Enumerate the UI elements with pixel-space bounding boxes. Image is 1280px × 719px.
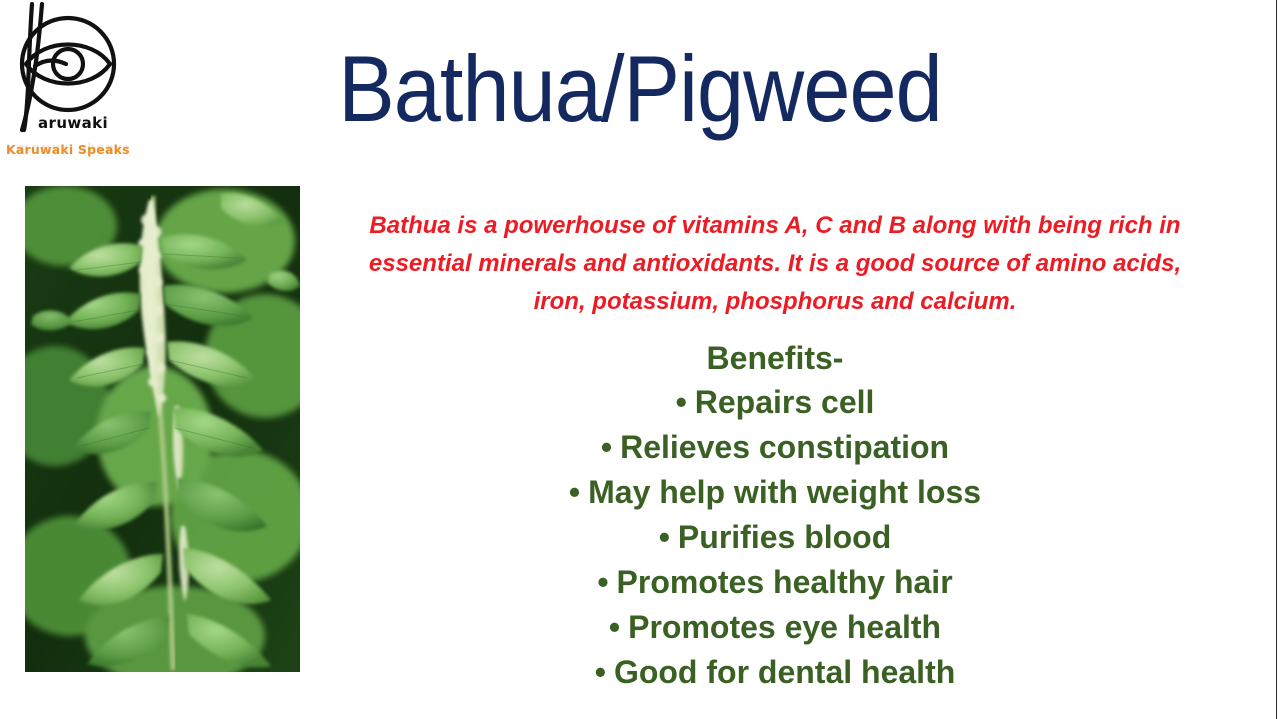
slide-canvas: aruwaki Karuwaki Speaks Karuwaki Speaks … [0,0,1280,719]
benefit-item-label: May help with weight loss [588,474,981,510]
benefits-list: •Repairs cell•Relieves constipation•May … [400,380,1150,695]
benefits-section: Benefits- •Repairs cell•Relieves constip… [400,336,1150,695]
page-title: Bathua/Pigweed [280,42,1000,136]
benefit-item: •Promotes healthy hair [400,560,1150,605]
plant-photo [25,186,300,672]
benefit-item: •Purifies blood [400,515,1150,560]
bullet-icon: • [569,470,580,515]
benefit-item-label: Purifies blood [678,519,891,555]
bullet-icon: • [659,515,670,560]
right-border-rule [1276,0,1277,719]
benefit-item-label: Relieves constipation [620,429,949,465]
benefit-item: •Good for dental health [400,650,1150,695]
bullet-icon: • [597,560,608,605]
benefit-item-label: Promotes eye health [628,609,941,645]
bullet-icon: • [595,650,606,695]
bullet-icon: • [609,605,620,650]
benefits-heading: Benefits- [400,336,1150,380]
logo-wordmark: Karuwaki Speaks [6,142,126,157]
benefit-item-label: Promotes healthy hair [617,564,953,600]
brand-logo[interactable]: aruwaki Karuwaki Speaks Karuwaki Speaks [2,2,132,172]
benefit-item: •May help with weight loss [400,470,1150,515]
bullet-icon: • [601,425,612,470]
benefit-item-label: Good for dental health [614,654,955,690]
benefit-item: •Relieves constipation [400,425,1150,470]
benefit-item: •Promotes eye health [400,605,1150,650]
benefit-item: •Repairs cell [400,380,1150,425]
benefit-item-label: Repairs cell [695,384,875,420]
karuwaki-eye-logo-icon: aruwaki [2,2,120,134]
intro-paragraph: Bathua is a powerhouse of vitamins A, C … [345,207,1205,321]
svg-text:aruwaki: aruwaki [38,114,108,132]
bullet-icon: • [676,380,687,425]
